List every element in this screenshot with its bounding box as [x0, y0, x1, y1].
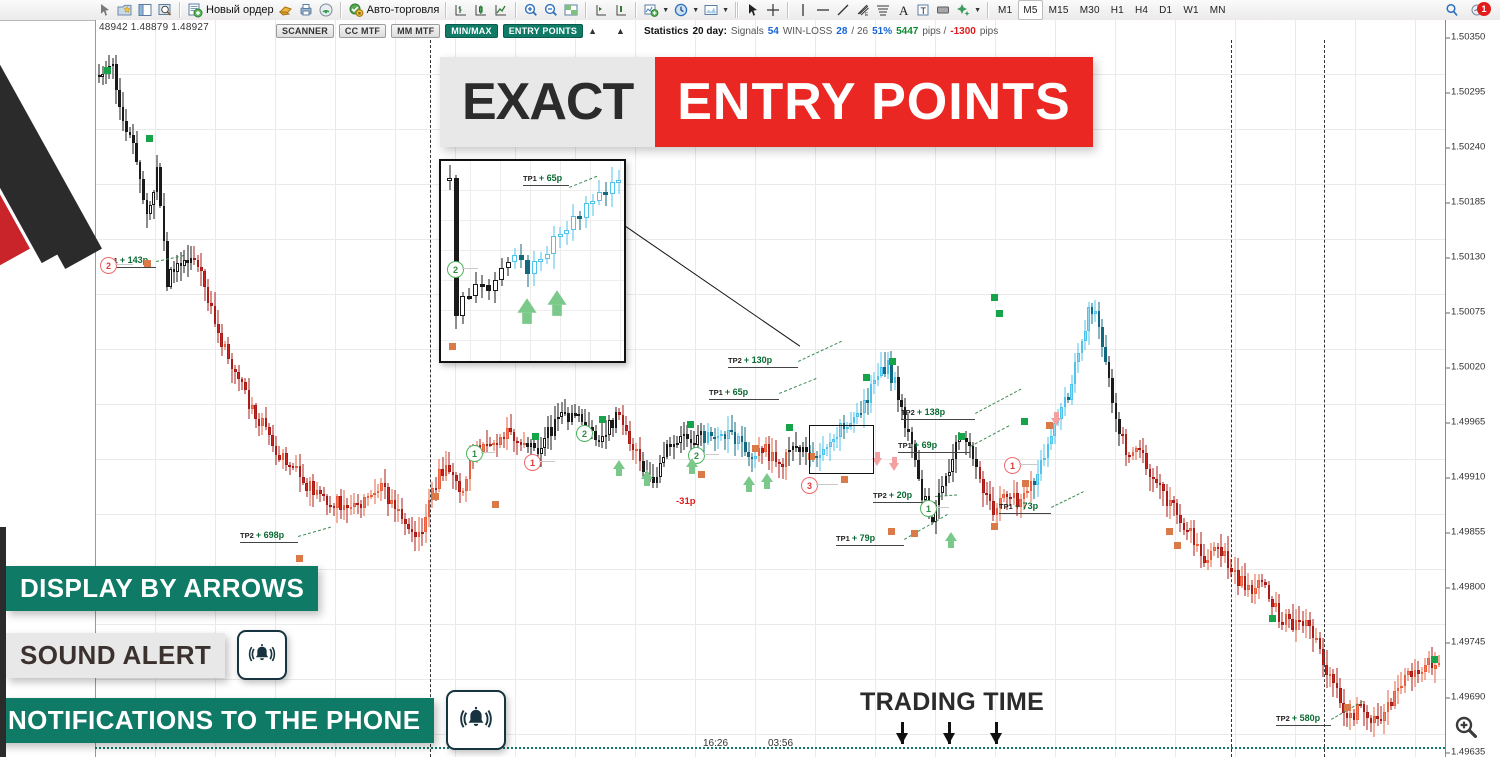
- signal-dot: [752, 445, 759, 452]
- candle: [1206, 549, 1209, 570]
- candle: [285, 447, 288, 472]
- candle: [98, 64, 101, 83]
- candle: [1295, 609, 1298, 641]
- candle: [1047, 437, 1050, 467]
- stats-title: Statistics: [644, 26, 688, 37]
- candle: [292, 463, 295, 470]
- candle: [1380, 706, 1383, 724]
- candle: [1278, 594, 1281, 628]
- collapse-caret-2[interactable]: ▲: [616, 26, 625, 36]
- timeframe-group: M1M5M15M30H1H4D1W1MN: [993, 0, 1231, 20]
- candle: [251, 397, 254, 414]
- candle: [139, 160, 142, 194]
- alerts-count: 1: [1477, 2, 1491, 16]
- candle: [397, 494, 400, 522]
- candle: [741, 426, 744, 457]
- annotation-tp1-79-rule: [836, 545, 904, 546]
- candle: [112, 58, 115, 79]
- candle: [608, 415, 611, 441]
- candle: [880, 352, 883, 378]
- candle: [1155, 466, 1158, 488]
- fibo-icon[interactable]: E: [853, 1, 873, 19]
- candle: [190, 246, 193, 270]
- candle: [265, 407, 268, 431]
- candle: [339, 489, 342, 518]
- candle: [275, 436, 278, 465]
- candle: [1220, 534, 1223, 567]
- candle: [785, 449, 788, 479]
- candle: [1366, 705, 1369, 731]
- signal-marker: 2: [576, 425, 593, 442]
- indicator-button-entry-points[interactable]: ENTRY POINTS: [503, 24, 583, 38]
- candle: [1421, 667, 1424, 682]
- candle: [1200, 532, 1203, 567]
- inset-candle: [532, 251, 537, 286]
- inset-candle: [558, 227, 563, 248]
- inset-candle: [467, 288, 472, 300]
- favorites-icon[interactable]: [115, 1, 135, 19]
- candle: [1237, 558, 1240, 595]
- signal-arrow-up: [613, 460, 625, 469]
- inset-candle: [597, 180, 602, 205]
- candle: [452, 463, 455, 489]
- candle: [1189, 520, 1192, 543]
- price-tick: 1.49690: [1451, 692, 1485, 703]
- hline-icon[interactable]: [813, 1, 833, 19]
- candle: [1257, 574, 1260, 599]
- candle: [163, 193, 166, 251]
- timeframe-m15[interactable]: M15: [1044, 0, 1074, 20]
- candle: [1274, 592, 1277, 612]
- candle: [1070, 375, 1073, 404]
- new-order-button[interactable]: Новый ордер: [185, 1, 276, 19]
- candle: [1132, 447, 1135, 460]
- autotrade-button[interactable]: Авто-торговля: [346, 1, 442, 19]
- stats-period: 20 day:: [692, 26, 726, 37]
- candle: [870, 375, 873, 413]
- signal-arrow-up: [945, 532, 957, 541]
- candle: [1036, 460, 1039, 498]
- candle: [1336, 668, 1339, 698]
- signal-arrow-up: [686, 458, 698, 467]
- candle: [707, 423, 710, 446]
- candle: [594, 425, 597, 446]
- bar-chart-icon[interactable]: [451, 1, 471, 19]
- signal-dot: [599, 416, 606, 423]
- candle: [326, 494, 329, 515]
- vline-icon[interactable]: [793, 1, 813, 19]
- candle: [1087, 302, 1090, 345]
- annotation-tp2-138: TP2 + 138p: [901, 407, 945, 417]
- candle: [322, 487, 325, 501]
- candle: [373, 479, 376, 504]
- pointer-icon[interactable]: [743, 1, 763, 19]
- signal-marker: 2: [100, 257, 117, 274]
- candle: [938, 479, 941, 519]
- candle: [683, 422, 686, 450]
- candle: [197, 255, 200, 272]
- candle: [625, 416, 628, 435]
- inset-candle: [584, 196, 589, 228]
- candle: [1111, 369, 1114, 413]
- candle: [577, 406, 580, 422]
- inset-candle: [603, 182, 608, 206]
- inset-marker-leader: [462, 268, 478, 269]
- autotrade-label: Авто-торговля: [367, 4, 440, 16]
- candle: [975, 447, 978, 479]
- candle: [673, 435, 676, 459]
- pips-label-2: pips: [980, 26, 998, 37]
- candle: [1115, 393, 1118, 432]
- pips-gain: 5447: [896, 26, 918, 37]
- candle: [1186, 522, 1189, 540]
- print-icon[interactable]: [296, 1, 316, 19]
- candle: [1376, 703, 1379, 726]
- signal-marker-leader: [1019, 464, 1037, 465]
- candle: [1077, 343, 1080, 374]
- window-icon[interactable]: [135, 1, 155, 19]
- candle: [628, 421, 631, 451]
- zoom-inset-panel: TP1 + 65p2: [439, 159, 626, 363]
- candle: [295, 455, 298, 472]
- signal-marker-leader: [539, 461, 555, 462]
- candle: [917, 450, 920, 481]
- candle: [125, 109, 128, 141]
- candle: [873, 372, 876, 394]
- signal-dot: [958, 433, 965, 440]
- candle: [1138, 440, 1141, 458]
- candle: [166, 232, 169, 291]
- shapes-dropdown[interactable]: ▼: [953, 1, 983, 19]
- bell-alert-icon-2: [446, 690, 506, 750]
- candle: [129, 127, 132, 138]
- candle: [1166, 484, 1169, 517]
- price-tick: 1.50075: [1451, 307, 1485, 318]
- timeframe-h1[interactable]: H1: [1106, 0, 1129, 20]
- candle: [309, 477, 312, 506]
- price-tick: 1.49800: [1451, 582, 1485, 593]
- signal-dot: [432, 493, 439, 500]
- candle: [1203, 544, 1206, 567]
- inset-candle: [545, 246, 550, 264]
- candle: [465, 476, 468, 502]
- templates-dropdown[interactable]: ▼: [701, 1, 731, 19]
- candle: [979, 461, 982, 482]
- signal-dot: [991, 294, 998, 301]
- candle: [353, 493, 356, 514]
- annotation-tp2-580-rule: [1276, 725, 1331, 726]
- candle: [632, 438, 635, 460]
- timeframe-w1[interactable]: W1: [1178, 0, 1203, 20]
- candle-chart-icon[interactable]: [471, 1, 491, 19]
- inset-candle: [499, 258, 504, 285]
- candle: [207, 279, 210, 311]
- price-tick: 1.49910: [1451, 472, 1485, 483]
- candle: [992, 487, 995, 521]
- candle: [1240, 566, 1243, 589]
- candle: [792, 442, 795, 461]
- timeframe-m1[interactable]: M1: [993, 0, 1017, 20]
- candle: [234, 365, 237, 385]
- candle: [387, 483, 390, 516]
- annotation-tp1-69-rule: [898, 452, 970, 453]
- alerts-icon[interactable]: 1: [1468, 1, 1494, 19]
- time-label-1: 16:26: [703, 738, 728, 749]
- candle: [1169, 487, 1172, 518]
- signal-marker: 1: [920, 500, 937, 517]
- candle: [356, 494, 359, 515]
- candle: [346, 498, 349, 523]
- candle: [639, 437, 642, 472]
- candle: [737, 433, 740, 450]
- candle: [237, 365, 240, 391]
- channel-icon[interactable]: [873, 1, 893, 19]
- price-tick: 1.50020: [1451, 362, 1485, 373]
- candle: [407, 518, 410, 533]
- candle: [686, 425, 689, 447]
- candle: [1329, 667, 1332, 687]
- signal-arrow-dn: [1051, 418, 1061, 426]
- candle: [1315, 628, 1318, 642]
- main-toolbar: Новый ордер Авто-торговля: [0, 0, 1500, 21]
- candle: [982, 471, 985, 507]
- promo-label-arrows: DISPLAY BY ARROWS: [6, 566, 318, 611]
- candle: [1383, 704, 1386, 734]
- candle: [299, 454, 302, 492]
- candle: [367, 493, 370, 506]
- candle: [520, 439, 523, 451]
- inset-candle: [493, 272, 498, 303]
- candle: [1094, 300, 1097, 322]
- candle: [1026, 487, 1029, 498]
- candle: [1291, 604, 1294, 632]
- annotation-tp1-65: TP1 + 65p: [709, 387, 748, 397]
- eraser-icon[interactable]: [276, 1, 296, 19]
- headline-banner: EXACT ENTRY POINTS: [440, 57, 1093, 147]
- candle: [1410, 663, 1413, 692]
- signal-dot: [888, 528, 895, 535]
- search-icon[interactable]: [1442, 1, 1462, 19]
- pips-label-1: pips /: [922, 26, 946, 37]
- candle: [526, 437, 529, 453]
- candle: [343, 490, 346, 520]
- annotation-tp2-580: TP2 + 580p: [1276, 713, 1320, 723]
- indicator-button-mm-mtf[interactable]: MM MTF: [391, 24, 440, 38]
- indicator-button-cc-mtf[interactable]: CC MTF: [339, 24, 386, 38]
- mt4-chart-screenshot: Новый ордер Авто-торговля: [0, 0, 1500, 757]
- candle: [278, 446, 281, 462]
- signal-dot: [1166, 528, 1173, 535]
- candle: [217, 310, 220, 343]
- candle: [945, 473, 948, 497]
- candle: [798, 445, 801, 466]
- candle: [1298, 606, 1301, 630]
- candle: [363, 494, 366, 516]
- inspect-icon[interactable]: [155, 1, 175, 19]
- collapse-caret-1[interactable]: ▲: [588, 26, 597, 36]
- annotation-tp1-69: TP1 + 69p: [898, 440, 937, 450]
- signal-dot: [841, 476, 848, 483]
- candle: [152, 190, 155, 219]
- candle: [203, 269, 206, 301]
- inset-candle: [577, 211, 582, 229]
- trading-time-arrow-1: [896, 733, 908, 744]
- timeframe-m30[interactable]: M30: [1075, 0, 1105, 20]
- candle: [445, 451, 448, 481]
- candle: [744, 427, 747, 456]
- candle: [169, 267, 172, 289]
- timeframe-mn[interactable]: MN: [1205, 0, 1231, 20]
- zoom-in-icon[interactable]: [521, 1, 541, 19]
- candle: [1414, 659, 1417, 687]
- indicator-button-min-max[interactable]: MIN/MAX: [445, 24, 497, 38]
- inset-candle: [610, 167, 615, 207]
- candle: [254, 403, 257, 428]
- shift-start-icon[interactable]: [591, 1, 611, 19]
- candle: [499, 434, 502, 448]
- inset-signal-arrow-up: [547, 290, 566, 304]
- candle: [1033, 478, 1036, 499]
- candle: [1162, 482, 1165, 506]
- zoom-out-icon[interactable]: [541, 1, 561, 19]
- label-icon[interactable]: T: [913, 1, 933, 19]
- candle: [557, 403, 560, 431]
- candle: [1108, 356, 1111, 387]
- losses-value: / 26: [851, 26, 868, 37]
- signal-dot: [144, 260, 151, 267]
- candle: [1064, 387, 1067, 416]
- signal-marker: 3: [801, 477, 818, 494]
- candle: [231, 353, 234, 383]
- candle: [1339, 678, 1342, 709]
- signal-marker-leader: [935, 507, 949, 508]
- candle: [1142, 438, 1145, 463]
- candle: [887, 352, 890, 379]
- signal-dot: [911, 530, 918, 537]
- candle: [547, 416, 550, 449]
- candle: [795, 432, 798, 452]
- candle: [516, 437, 519, 456]
- shift-end-icon[interactable]: [611, 1, 631, 19]
- candle: [883, 352, 886, 376]
- candle: [1098, 302, 1101, 339]
- candle: [418, 517, 421, 551]
- candle: [1305, 609, 1308, 638]
- annotation-tp2-130: TP2 + 130p: [728, 355, 772, 365]
- timeframe-d1[interactable]: D1: [1154, 0, 1177, 20]
- candle: [601, 423, 604, 448]
- signal-dot: [996, 310, 1003, 317]
- candle: [1247, 573, 1250, 597]
- signal-marker: 1: [466, 445, 483, 462]
- text-icon[interactable]: A: [893, 1, 913, 19]
- candle: [894, 372, 897, 391]
- timeframe-m5[interactable]: M5: [1018, 0, 1042, 20]
- candle: [730, 415, 733, 435]
- zoom-source-rect: [809, 425, 874, 474]
- candle: [1118, 412, 1121, 447]
- candle: [1393, 681, 1396, 709]
- signal-dot: [1022, 480, 1029, 487]
- candle: [951, 444, 954, 482]
- price-tick: 1.49635: [1451, 747, 1485, 757]
- inset-candle: [590, 194, 595, 216]
- inset-signal-arrow-up: [517, 298, 536, 312]
- price-tick: 1.50350: [1451, 32, 1485, 43]
- candle: [581, 409, 584, 424]
- signal-dot: [863, 374, 870, 381]
- crosshair-icon[interactable]: [763, 1, 783, 19]
- candle: [271, 425, 274, 452]
- candle: [1040, 450, 1043, 481]
- candle: [1149, 464, 1152, 491]
- indicator-button-scanner[interactable]: SCANNER: [276, 24, 334, 38]
- signal-icon[interactable]: [316, 1, 336, 19]
- annotation-tp1-65-rule: [709, 399, 779, 400]
- candle: [615, 407, 618, 433]
- price-scale[interactable]: 1.503501.502951.502401.501851.501301.500…: [1445, 20, 1500, 757]
- candle: [1285, 609, 1288, 631]
- candle: [319, 486, 322, 502]
- pips-loss: -1300: [950, 26, 976, 37]
- candle: [411, 517, 414, 542]
- candle: [122, 92, 125, 131]
- inset-candle: [525, 255, 530, 288]
- candle: [1407, 668, 1410, 681]
- candle: [1244, 563, 1247, 596]
- candle: [214, 292, 217, 327]
- rect-icon[interactable]: [933, 1, 953, 19]
- candle: [1387, 690, 1390, 726]
- candle: [761, 446, 764, 464]
- candle: [1325, 650, 1328, 688]
- inset-candle: [538, 252, 543, 271]
- candle: [282, 449, 285, 469]
- candle: [1152, 468, 1155, 492]
- candle: [1067, 393, 1070, 403]
- candle: [713, 428, 716, 451]
- grid-icon[interactable]: [561, 1, 581, 19]
- candle: [1390, 698, 1393, 710]
- period-dropdown[interactable]: ▼: [671, 1, 701, 19]
- inset-candle: [447, 165, 452, 191]
- candle: [227, 337, 230, 365]
- candle: [115, 55, 118, 105]
- candle: [1417, 661, 1420, 684]
- trendline-icon[interactable]: [833, 1, 853, 19]
- candle: [1210, 543, 1213, 566]
- candle: [605, 420, 608, 449]
- candle: [571, 405, 574, 424]
- signal-dot: [991, 523, 998, 530]
- signal-arrow-up: [641, 470, 653, 479]
- candle: [1254, 574, 1257, 604]
- candle: [261, 413, 264, 435]
- candle: [336, 494, 339, 523]
- price-tick: 1.49965: [1451, 417, 1485, 428]
- cursor-icon[interactable]: [95, 1, 115, 19]
- timeframe-h4[interactable]: H4: [1130, 0, 1153, 20]
- candle: [248, 378, 251, 420]
- session-divider-2: [1231, 40, 1232, 757]
- annotation-tp2-698: TP2 + 698p: [240, 530, 284, 540]
- line-chart-icon[interactable]: [491, 1, 511, 19]
- inset-candle: [512, 248, 517, 269]
- annotation-tp1-73: TP1 + 73p: [999, 501, 1038, 511]
- indicators-dropdown[interactable]: ▼: [641, 1, 671, 19]
- inset-candle: [506, 257, 511, 277]
- candle: [380, 478, 383, 502]
